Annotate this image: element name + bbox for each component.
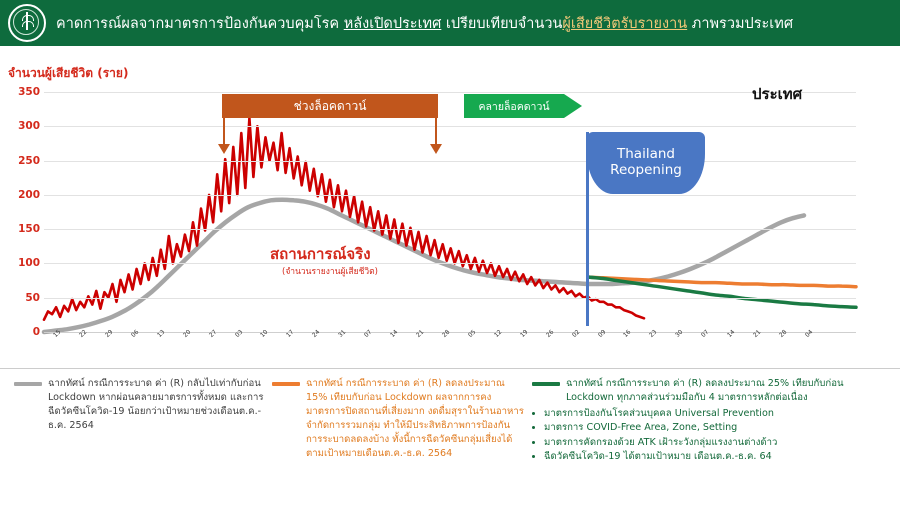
gridline — [44, 229, 856, 230]
gridline — [44, 195, 856, 196]
title-underline-deaths: ผู้เสียชีวิตรับรายงาน — [562, 16, 687, 32]
plot-region — [44, 92, 856, 332]
legend-scenario-green: ฉากทัศน์ กรณีการระบาด ค่า (R) ลดลงประมาณ… — [532, 377, 890, 464]
title-segment-2: เปรียบเทียบจำนวน — [441, 16, 562, 32]
gridline — [44, 126, 856, 127]
y-axis-tick-label: 200 — [8, 189, 40, 201]
y-axis-ticks: 050100150200250300350 — [0, 92, 40, 332]
legend-swatch-green — [532, 382, 560, 386]
y-axis-tick-label: 50 — [8, 292, 40, 304]
chart-legend: ฉากทัศน์ กรณีการระบาด ค่า (R) กลับไปเท่า… — [0, 368, 900, 507]
country-scope-label: ประเทศ — [752, 82, 802, 106]
lockdown-start-arrow-stem — [223, 118, 225, 146]
reopening-label-line2: Reopening — [610, 163, 682, 179]
ministry-of-public-health-logo-icon — [8, 4, 46, 42]
gridline — [44, 92, 856, 93]
easing-arrow-tip-icon — [564, 94, 582, 118]
chart-curves — [44, 92, 856, 332]
legend-bullet: มาตรการป้องกันโรคส่วนบุคคล Universal Pre… — [544, 407, 890, 421]
reopening-label-line1: Thailand — [617, 147, 675, 163]
gridline — [44, 298, 856, 299]
legend-green-bullets: มาตรการป้องกันโรคส่วนบุคคล Universal Pre… — [544, 407, 890, 465]
actual-series-label: สถานการณ์จริง — [270, 242, 371, 266]
easing-lockdown-label: คลายล็อคดาวน์ — [478, 98, 549, 115]
y-axis-tick-label: 150 — [8, 223, 40, 235]
title-segment-3: ภาพรวมประเทศ — [687, 16, 793, 32]
legend-swatch-orange — [272, 382, 300, 386]
y-axis-tick-label: 300 — [8, 120, 40, 132]
x-axis-ticks: 1522290613202703101724310714212805121926… — [44, 334, 856, 364]
legend-bullet: มาตรการ COVID-Free Area, Zone, Setting — [544, 421, 890, 435]
gridline — [44, 263, 856, 264]
legend-scenario-gray: ฉากทัศน์ กรณีการระบาด ค่า (R) กลับไปเท่า… — [14, 377, 264, 433]
chart-area: จำนวนผู้เสียชีวิต (ราย) 0501001502002503… — [0, 46, 900, 368]
gridline — [44, 161, 856, 162]
legend-scenario-orange: ฉากทัศน์ กรณีการระบาด ค่า (R) ลดลงประมาณ… — [272, 377, 524, 460]
lockdown-end-arrow-head — [430, 144, 442, 154]
legend-swatch-gray — [14, 382, 42, 386]
y-axis-tick-label: 0 — [8, 326, 40, 338]
reopening-flag: Thailand Reopening — [587, 132, 705, 194]
legend-text-gray: ฉากทัศน์ กรณีการระบาด ค่า (R) กลับไปเท่า… — [48, 377, 264, 433]
legend-bullet: มาตรการคัดกรองด้วย ATK เฝ้าระวังกลุ่มแรง… — [544, 436, 890, 450]
lockdown-band-annotation: ช่วงล็อคดาวน์ — [222, 94, 438, 118]
lockdown-end-arrow-stem — [435, 118, 437, 146]
legend-text-orange: ฉากทัศน์ กรณีการระบาด ค่า (R) ลดลงประมาณ… — [306, 377, 524, 460]
page-title: คาดการณ์ผลจากมาตรการป้องกันควบคุมโรค หลั… — [56, 12, 793, 35]
y-axis-tick-label: 100 — [8, 257, 40, 269]
title-underline-reopening: หลังเปิดประเทศ — [344, 16, 442, 32]
lockdown-start-arrow-head — [218, 144, 230, 154]
actual-series-sublabel: (จำนวนรายงานผู้เสียชีวิต) — [282, 264, 378, 278]
legend-text-green: ฉากทัศน์ กรณีการระบาด ค่า (R) ลดลงประมาณ… — [566, 377, 890, 405]
easing-lockdown-annotation: คลายล็อคดาวน์ — [464, 94, 586, 118]
legend-bullet: ฉีดวัคซีนโควิด-19 ได้ตามเป้าหมาย เดือนต.… — [544, 450, 890, 464]
y-axis-label: จำนวนผู้เสียชีวิต (ราย) — [8, 64, 128, 83]
title-segment-1: คาดการณ์ผลจากมาตรการป้องกันควบคุมโรค — [56, 16, 344, 32]
page-header: คาดการณ์ผลจากมาตรการป้องกันควบคุมโรค หลั… — [0, 0, 900, 46]
y-axis-tick-label: 350 — [8, 86, 40, 98]
lockdown-band-label: ช่วงล็อคดาวน์ — [294, 97, 367, 116]
y-axis-tick-label: 250 — [8, 155, 40, 167]
